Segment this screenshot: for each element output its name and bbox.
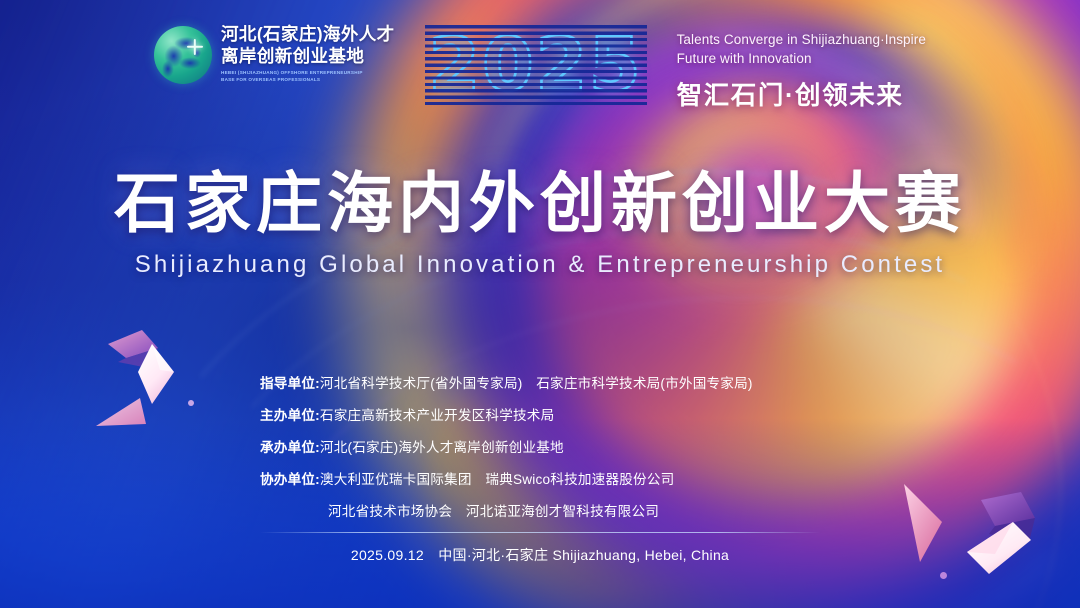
credit-value: 澳大利亚优瑞卡国际集团 瑞典Swico科技加速器股份公司 (320, 468, 675, 488)
sparkle-icon (187, 39, 203, 55)
year-graphic: 2025 (429, 28, 643, 102)
tagline-english-2: Future with Innovation (677, 49, 926, 68)
main-title-block: 石家庄海内外创新创业大赛 Shijiazhuang Global Innovat… (0, 168, 1080, 279)
logo-line-1: 河北(石家庄)海外人才 (221, 26, 395, 44)
credit-label: 指导单位: (260, 372, 320, 392)
crystal-dot-right (940, 572, 947, 579)
credit-continuation: 河北省技术市场协会 河北诺亚海创才智科技有限公司 (328, 500, 820, 520)
credit-value: 河北省科学技术厅(省外国专家局) 石家庄市科学技术局(市外国专家局) (320, 372, 753, 392)
credit-label: 主办单位: (260, 404, 320, 424)
credit-value: 河北(石家庄)海外人才离岸创新创业基地 (320, 436, 564, 456)
crystal-shard-right (898, 478, 968, 584)
globe-icon (154, 26, 212, 84)
credit-value: 石家庄高新技术产业开发区科学技术局 (320, 404, 555, 424)
logo-text-group: 河北(石家庄)海外人才 离岸创新创业基地 HEBEI (SHIJIAZHUANG… (221, 26, 395, 83)
logo-line-2: 离岸创新创业基地 (221, 48, 395, 66)
tagline-english-1: Talents Converge in Shijiazhuang·Inspire (677, 30, 926, 49)
credit-row-host: 主办单位: 石家庄高新技术产业开发区科学技术局 (260, 404, 820, 424)
page-title: 石家庄海内外创新创业大赛 (0, 168, 1080, 239)
credit-row-organizer: 承办单位: 河北(石家庄)海外人才离岸创新创业基地 (260, 436, 820, 456)
crystal-shard-left (92, 382, 178, 438)
footer-divider (260, 532, 820, 533)
header: 河北(石家庄)海外人才 离岸创新创业基地 HEBEI (SHIJIAZHUANG… (0, 26, 1080, 112)
tagline-block: Talents Converge in Shijiazhuang·Inspire… (677, 30, 926, 112)
poster-canvas: 河北(石家庄)海外人才 离岸创新创业基地 HEBEI (SHIJIAZHUANG… (0, 0, 1080, 608)
credit-label: 协办单位: (260, 468, 320, 488)
credit-row-coorganizer: 协办单位: 澳大利亚优瑞卡国际集团 瑞典Swico科技加速器股份公司 (260, 468, 820, 488)
logo-english: HEBEI (SHIJIAZHUANG) OFFSHORE ENTREPRENE… (221, 70, 373, 83)
credits-block: 指导单位: 河北省科学技术厅(省外国专家局) 石家庄市科学技术局(市外国专家局)… (260, 372, 820, 565)
footer-date-location: 2025.09.12 中国·河北·石家庄 Shijiazhuang, Hebei… (260, 545, 820, 565)
crystal-cluster-right (955, 478, 1070, 598)
credit-label: 承办单位: (260, 436, 320, 456)
page-subtitle: Shijiazhuang Global Innovation & Entrepr… (0, 251, 1080, 279)
credit-row-guidance: 指导单位: 河北省科学技术厅(省外国专家局) 石家庄市科学技术局(市外国专家局) (260, 372, 820, 392)
crystal-dot-left (188, 400, 194, 406)
tagline-chinese: 智汇石门·创领未来 (677, 75, 926, 112)
organization-logo: 河北(石家庄)海外人才 离岸创新创业基地 HEBEI (SHIJIAZHUANG… (154, 26, 395, 84)
